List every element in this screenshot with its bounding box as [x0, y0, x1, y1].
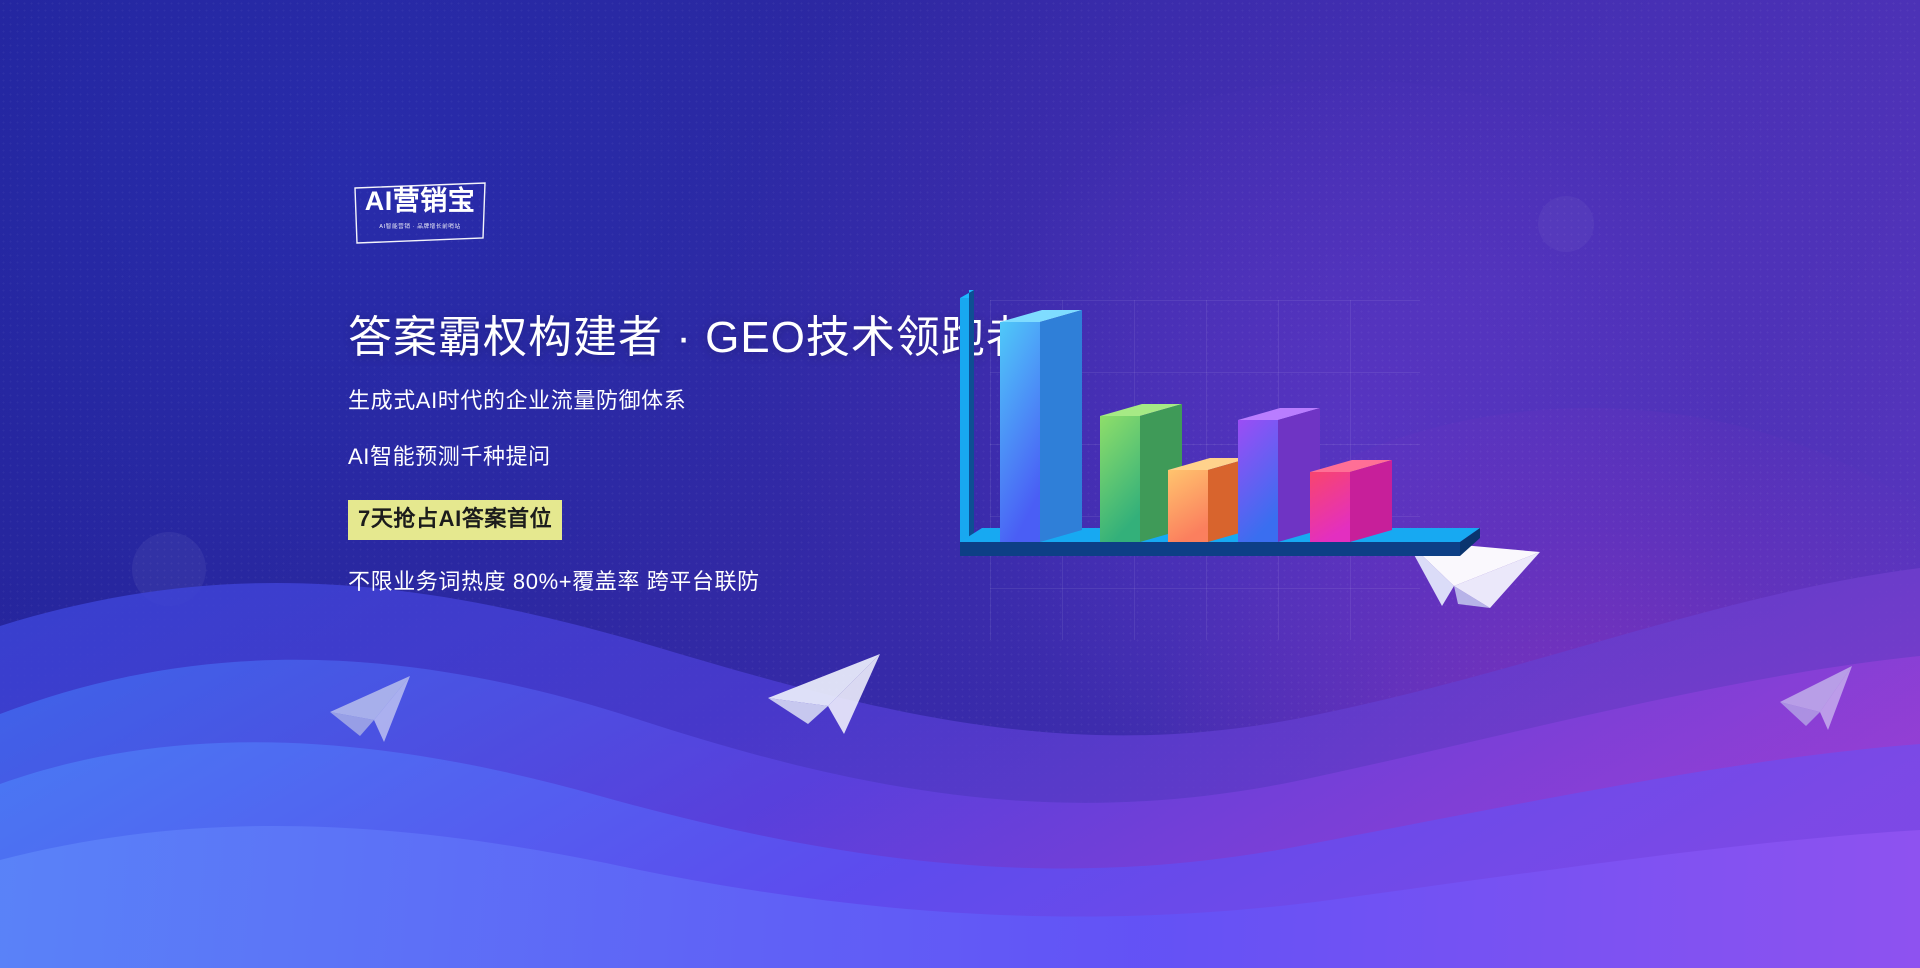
chart-bar	[1238, 408, 1320, 542]
bar-chart-illustration	[960, 280, 1480, 680]
chart-bar	[1000, 310, 1082, 542]
brand-logo[interactable]: AI营销宝 AI智能营销 · 品牌增长前哨站	[352, 182, 488, 244]
chart-bars	[1000, 310, 1392, 542]
promo-banner: AI营销宝 AI智能营销 · 品牌增长前哨站 答案霸权构建者 · GEO技术领跑…	[0, 0, 1920, 968]
paper-plane-icon	[762, 642, 892, 746]
chart-bar	[1168, 458, 1250, 542]
logo-wordmark: AI营销宝	[352, 188, 488, 215]
chart-bar	[1310, 460, 1392, 542]
paper-plane-icon	[326, 658, 436, 748]
hero-highlight-badge: 7天抢占AI答案首位	[348, 500, 562, 540]
logo-tagline: AI智能营销 · 品牌增长前哨站	[356, 221, 484, 229]
chart-y-axis	[960, 290, 974, 556]
paper-plane-icon	[1776, 660, 1872, 744]
